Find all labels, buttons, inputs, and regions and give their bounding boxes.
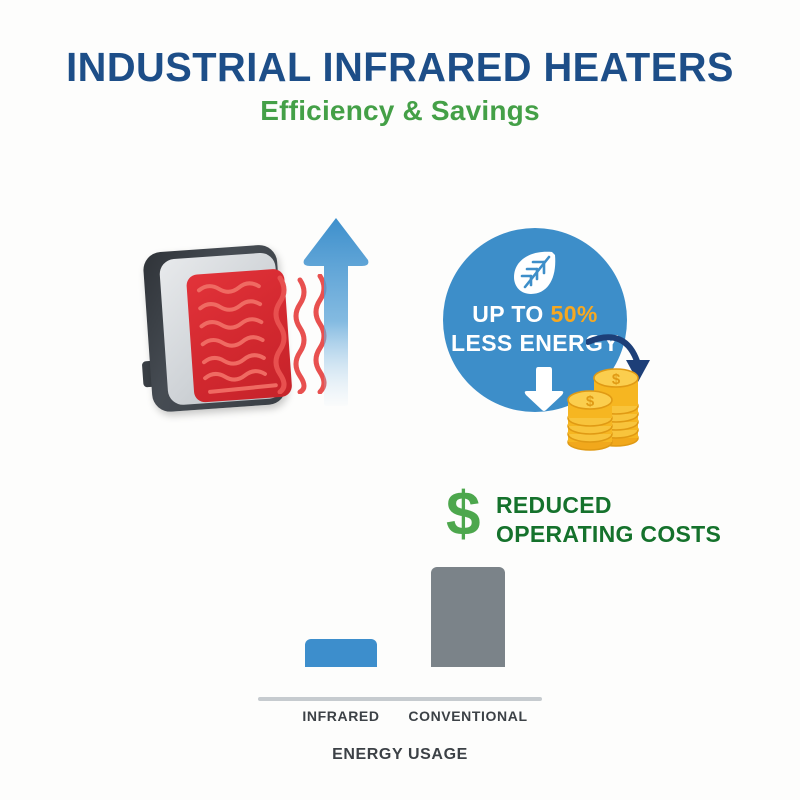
heater-frame [142,244,287,413]
leaf-icon [508,246,562,300]
heater-bezel [159,252,285,406]
page-title: INDUSTRIAL INFRARED HEATERS [12,46,788,89]
reduced-operating-costs: $ REDUCED OPERATING COSTS [446,486,746,550]
up-arrow-icon [300,216,372,406]
badge-percent: 50% [551,301,598,327]
svg-text:$: $ [612,371,621,388]
badge-line-1: UP TO 50% [443,300,627,329]
infographic-canvas: INDUSTRIAL INFRARED HEATERS Efficiency &… [0,0,800,800]
dollar-sign-icon: $ [446,486,486,548]
chart-axis-label: ENERGY USAGE [250,746,550,764]
badge-prefix: UP TO [472,301,550,327]
energy-usage-bar-chart: INFRARED CONVENTIONAL ENERGY USAGE [250,570,550,770]
cost-line-2: OPERATING COSTS [496,520,721,549]
coin-stacks-icon: $ $ [560,362,650,452]
chart-baseline [258,697,542,701]
header: INDUSTRIAL INFRARED HEATERS Efficiency &… [0,46,800,127]
svg-text:$: $ [586,393,595,410]
cost-text: REDUCED OPERATING COSTS [496,491,721,549]
bar-label-conventional: CONVENTIONAL [388,708,548,724]
cost-line-1: REDUCED [496,491,721,520]
page-subtitle: Efficiency & Savings [0,95,800,127]
bar-conventional [431,567,505,667]
bar-infrared [305,639,377,667]
